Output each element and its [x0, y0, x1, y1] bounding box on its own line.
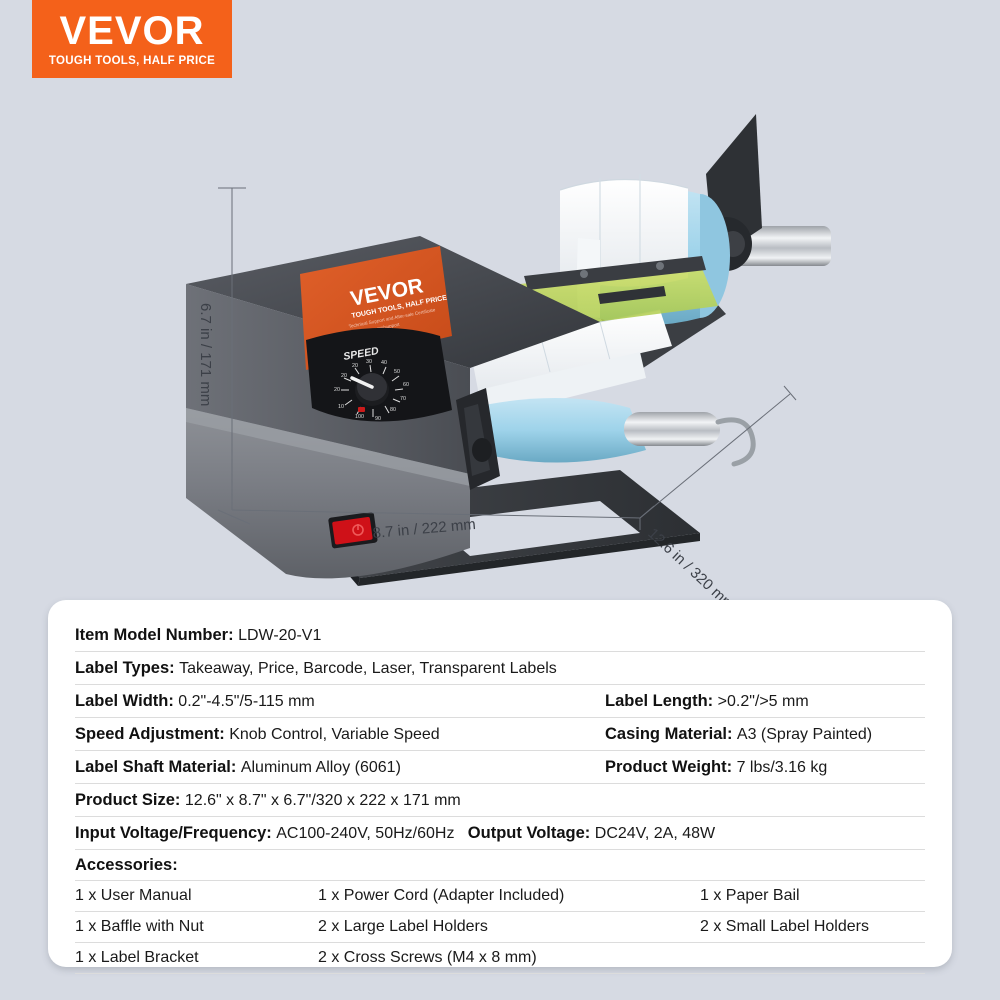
spec-value: DC24V, 2A, 48W	[595, 825, 715, 842]
accessory-item: 2 x Cross Screws (M4 x 8 mm)	[318, 943, 537, 973]
power-switch[interactable]	[328, 512, 378, 549]
accessories-heading-row: Accessories:	[75, 850, 925, 881]
svg-text:30: 30	[366, 359, 372, 365]
speed-dial-area[interactable]: SPEED 30 40 50 60 70 80	[306, 328, 452, 422]
accessories-heading: Accessories:	[75, 856, 178, 874]
spec-row-model: Item Model Number: LDW-20-V1	[75, 620, 925, 652]
accessories-row: 1 x Baffle with Nut 2 x Large Label Hold…	[75, 912, 925, 943]
spec-key: Casing Material:	[605, 725, 732, 743]
svg-text:20: 20	[341, 373, 347, 379]
accessory-item: 1 x Power Cord (Adapter Included)	[318, 881, 564, 911]
accessory-item: 2 x Small Label Holders	[700, 912, 869, 942]
svg-text:70: 70	[400, 396, 406, 402]
product-illustration: VEVOR TOUGH TOOLS, HALF PRICE Technical …	[0, 78, 1000, 598]
spec-key: Product Size:	[75, 791, 180, 809]
spec-key: Output Voltage:	[468, 824, 591, 842]
spec-value: 12.6" x 8.7" x 6.7"/320 x 222 x 171 mm	[185, 792, 461, 809]
spec-value: 0.2"-4.5"/5-115 mm	[178, 693, 314, 710]
dimension-height-label: 6.7 in / 171 mm	[197, 303, 214, 406]
svg-text:90: 90	[375, 416, 381, 422]
spec-value: 7 lbs/3.16 kg	[737, 759, 828, 776]
spec-value: A3 (Spray Painted)	[737, 726, 872, 743]
rewind-roller	[470, 398, 753, 464]
accessory-item: 1 x User Manual	[75, 881, 192, 911]
spec-col-right: Product Weight: 7 lbs/3.16 kg	[605, 751, 827, 784]
vevor-logo: VEVOR TOUGH TOOLS, HALF PRICE	[32, 0, 232, 78]
spec-row-input-voltage: Input Voltage/Frequency: AC100-240V, 50H…	[75, 817, 925, 850]
svg-text:60: 60	[403, 382, 409, 388]
accessory-item: 2 x Large Label Holders	[318, 912, 488, 942]
accessory-item: 1 x Baffle with Nut	[75, 912, 204, 942]
spec-key: Label Length:	[605, 692, 713, 710]
spec-key: Speed Adjustment:	[75, 725, 225, 743]
spec-key: Input Voltage/Frequency:	[75, 824, 272, 842]
spec-row-shaft-material: Label Shaft Material: Aluminum Alloy (60…	[75, 751, 925, 784]
spec-value: AC100-240V, 50Hz/60Hz	[276, 825, 454, 842]
svg-text:40: 40	[381, 360, 387, 366]
spec-key: Item Model Number:	[75, 626, 234, 644]
svg-text:100: 100	[355, 414, 364, 420]
svg-text:20: 20	[334, 387, 340, 393]
spec-key: Label Width:	[75, 692, 174, 710]
svg-text:20: 20	[352, 363, 358, 369]
svg-text:50: 50	[394, 369, 400, 375]
spec-key: Label Types:	[75, 659, 175, 677]
brand-tagline: TOUGH TOOLS, HALF PRICE	[49, 56, 215, 68]
spec-col-right: Casing Material: A3 (Spray Painted)	[605, 718, 872, 751]
svg-text:80: 80	[390, 407, 396, 413]
accessories-row: 1 x User Manual 1 x Power Cord (Adapter …	[75, 881, 925, 912]
spec-value: LDW-20-V1	[238, 627, 321, 644]
svg-text:10: 10	[338, 404, 344, 410]
spec-value: >0.2"/>5 mm	[718, 693, 809, 710]
spec-row-label-width: Label Width: 0.2"-4.5"/5-115 mm Label Le…	[75, 685, 925, 718]
product-photo: VEVOR TOUGH TOOLS, HALF PRICE Technical …	[0, 78, 1000, 598]
spec-row-speed-adjustment: Speed Adjustment: Knob Control, Variable…	[75, 718, 925, 751]
accessory-item: 1 x Label Bracket	[75, 943, 199, 973]
spec-key: Product Weight:	[605, 758, 732, 776]
dial-indicator-mark	[358, 407, 365, 412]
spec-row-product-size: Product Size: 12.6" x 8.7" x 6.7"/320 x …	[75, 784, 925, 817]
spec-value: Takeaway, Price, Barcode, Laser, Transpa…	[179, 660, 557, 677]
spec-key: Label Shaft Material:	[75, 758, 236, 776]
spec-col-right: Label Length: >0.2"/>5 mm	[605, 685, 809, 718]
accessory-item: 1 x Paper Bail	[700, 881, 800, 911]
accessories-row: 1 x Label Bracket 2 x Cross Screws (M4 x…	[75, 943, 925, 974]
spec-value: Knob Control, Variable Speed	[229, 726, 440, 743]
brand-wordmark: VEVOR	[59, 11, 204, 51]
spec-row-label-types: Label Types: Takeaway, Price, Barcode, L…	[75, 652, 925, 685]
spec-value: Aluminum Alloy (6061)	[241, 759, 401, 776]
specification-card: Item Model Number: LDW-20-V1 Label Types…	[48, 600, 952, 967]
